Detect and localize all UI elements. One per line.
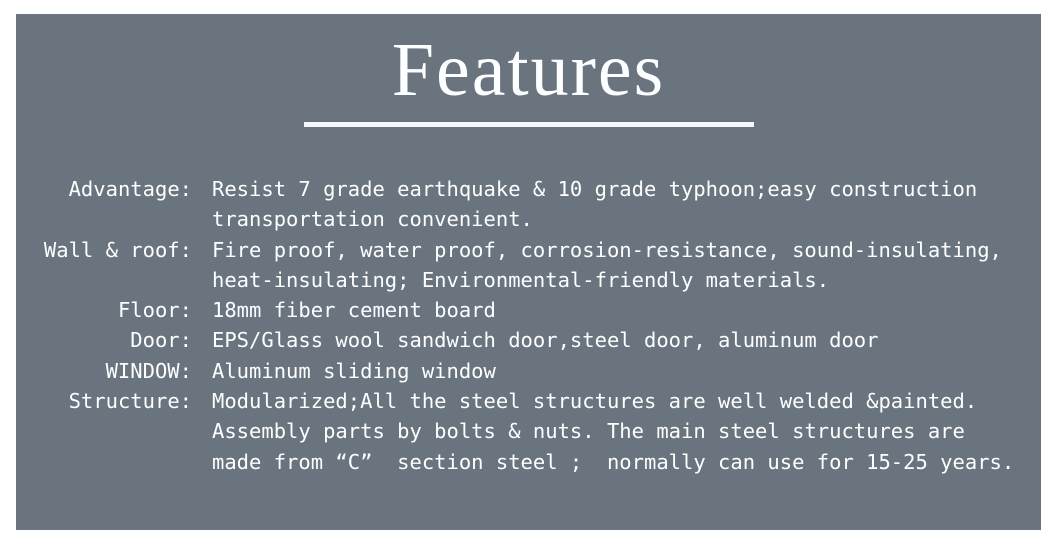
spec-row-structure: Structure: Modularized;All the steel str… (16, 386, 1041, 477)
spec-line: Fire proof, water proof, corrosion-resis… (212, 235, 1002, 265)
spec-line: heat-insulating; Environmental-friendly … (212, 265, 1002, 295)
spec-values-door: EPS/Glass wool sandwich door,steel door,… (212, 325, 878, 355)
page-title: Features (16, 14, 1041, 108)
features-panel: Features Advantage: Resist 7 grade earth… (16, 14, 1041, 530)
spec-line: Modularized;All the steel structures are… (212, 386, 1014, 416)
spec-label-advantage: Advantage: (16, 174, 192, 204)
spec-label-wall-and-roof: Wall & roof: (16, 235, 192, 265)
spec-line: 18mm fiber cement board (212, 295, 496, 325)
spec-row-door: Door: EPS/Glass wool sandwich door,steel… (16, 325, 1041, 355)
spec-line: made from “C” section steel ; normally c… (212, 447, 1014, 477)
title-underline-rule (304, 122, 754, 127)
spec-line: Aluminum sliding window (212, 356, 496, 386)
spec-row-advantage: Advantage: Resist 7 grade earthquake & 1… (16, 174, 1041, 235)
spec-values-wall-and-roof: Fire proof, water proof, corrosion-resis… (212, 235, 1002, 296)
spec-row-wall-and-roof: Wall & roof: Fire proof, water proof, co… (16, 235, 1041, 296)
spec-list: Advantage: Resist 7 grade earthquake & 1… (16, 174, 1041, 477)
spec-label-floor: Floor: (16, 295, 192, 325)
spec-values-advantage: Resist 7 grade earthquake & 10 grade typ… (212, 174, 977, 235)
spec-line: Resist 7 grade earthquake & 10 grade typ… (212, 174, 977, 204)
spec-line: EPS/Glass wool sandwich door,steel door,… (212, 325, 878, 355)
spec-label-door: Door: (16, 325, 192, 355)
spec-label-structure: Structure: (16, 386, 192, 416)
spec-line: transportation convenient. (212, 204, 977, 234)
spec-line: Assembly parts by bolts & nuts. The main… (212, 416, 1014, 446)
title-block: Features (16, 14, 1041, 127)
spec-values-floor: 18mm fiber cement board (212, 295, 496, 325)
spec-values-window: Aluminum sliding window (212, 356, 496, 386)
spec-label-window: WINDOW: (16, 356, 192, 386)
spec-row-window: WINDOW: Aluminum sliding window (16, 356, 1041, 386)
spec-values-structure: Modularized;All the steel structures are… (212, 386, 1014, 477)
spec-row-floor: Floor: 18mm fiber cement board (16, 295, 1041, 325)
